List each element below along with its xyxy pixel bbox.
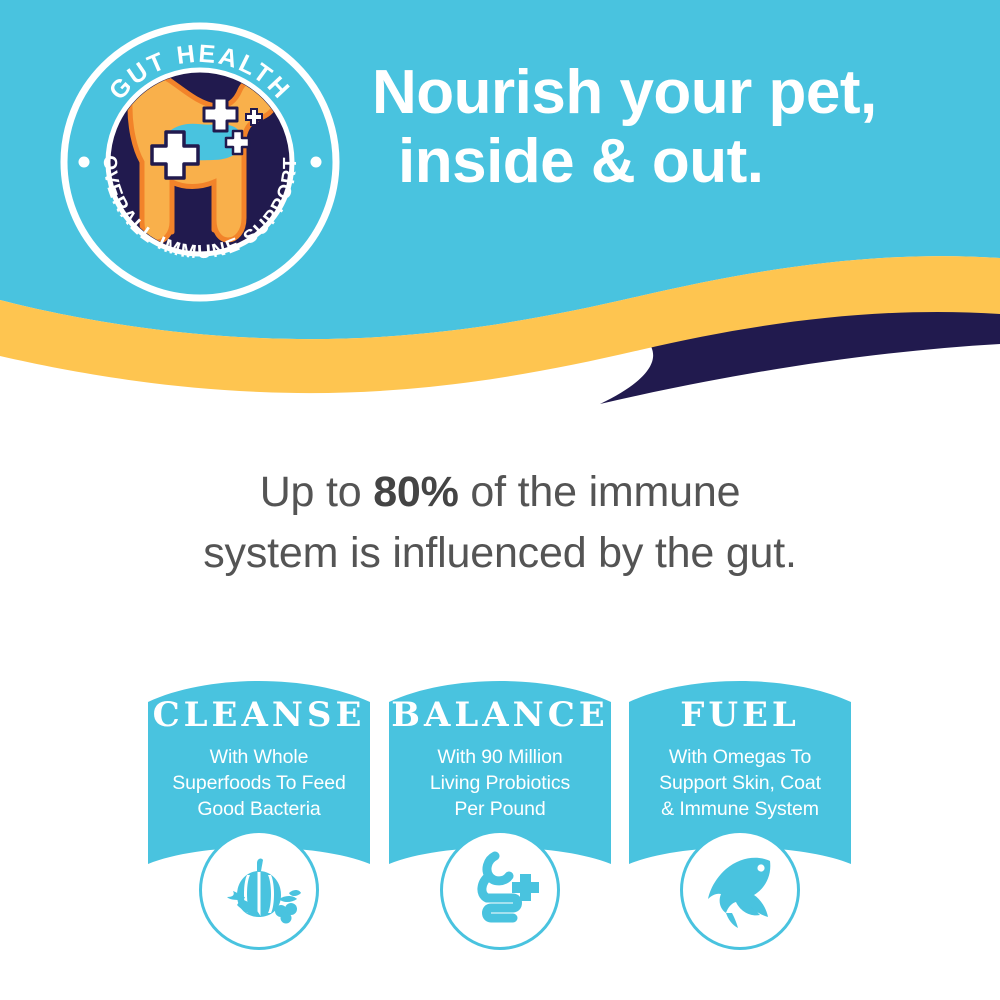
- stat-statement: Up to 80% of the immune system is influe…: [0, 462, 1000, 584]
- stat-line-2: system is influenced by the gut.: [0, 523, 1000, 584]
- stat-line-1: Up to 80% of the immune: [0, 462, 1000, 523]
- badge-dot-right: [311, 157, 322, 168]
- stat-suffix: of the immune: [459, 468, 741, 516]
- headline-line-1: Nourish your pet,: [372, 58, 877, 127]
- stat-prefix: Up to: [260, 468, 374, 516]
- card-desc-line: Good Bacteria: [154, 797, 364, 823]
- card-text-block: BALANCE With 90 Million Living Probiotic…: [389, 668, 611, 823]
- card-title: BALANCE: [389, 698, 611, 732]
- card-desc-line: Superfoods To Feed: [154, 771, 364, 797]
- card-description: With 90 Million Living Probiotics Per Po…: [389, 745, 611, 823]
- card-desc-line: With Omegas To: [635, 745, 845, 771]
- card-desc-line: Per Pound: [395, 797, 605, 823]
- benefit-card-balance[interactable]: BALANCE With 90 Million Living Probiotic…: [389, 668, 611, 888]
- stat-highlight: 80%: [373, 468, 458, 516]
- card-text-block: CLEANSE With Whole Superfoods To Feed Go…: [148, 668, 370, 823]
- card-icon-circle: [199, 830, 319, 950]
- fish-eye-icon: [757, 864, 764, 871]
- card-icon-circle: [440, 830, 560, 950]
- hero-headline: Nourish your pet, inside & out.: [372, 58, 972, 197]
- benefit-card-fuel[interactable]: FUEL With Omegas To Support Skin, Coat &…: [629, 668, 851, 888]
- card-desc-line: & Immune System: [635, 797, 845, 823]
- stomach-intestines-plus-icon: [461, 850, 539, 930]
- card-title: FUEL: [629, 698, 851, 732]
- card-description: With Whole Superfoods To Feed Good Bacte…: [148, 745, 370, 823]
- benefit-card-cleanse[interactable]: CLEANSE With Whole Superfoods To Feed Go…: [148, 668, 370, 888]
- gut-health-badge: GUT HEALTH OVERALL IMMUNE SUPPORT: [60, 22, 340, 302]
- benefit-cards: CLEANSE With Whole Superfoods To Feed Go…: [0, 668, 1000, 968]
- headline-line-2: inside & out.: [372, 127, 972, 196]
- card-title: CLEANSE: [148, 698, 370, 732]
- card-icon-circle: [680, 830, 800, 950]
- card-desc-line: Support Skin, Coat: [635, 771, 845, 797]
- promo-graphic: GUT HEALTH OVERALL IMMUNE SUPPORT Nouris…: [0, 0, 1000, 1000]
- card-desc-line: With 90 Million: [395, 745, 605, 771]
- card-desc-line: With Whole: [154, 745, 364, 771]
- badge-dot-left: [79, 157, 90, 168]
- card-text-block: FUEL With Omegas To Support Skin, Coat &…: [629, 668, 851, 823]
- leaping-fish-icon: [698, 851, 782, 929]
- card-description: With Omegas To Support Skin, Coat & Immu…: [629, 745, 851, 823]
- pumpkin-carrot-berries-icon: [217, 855, 301, 925]
- card-desc-line: Living Probiotics: [395, 771, 605, 797]
